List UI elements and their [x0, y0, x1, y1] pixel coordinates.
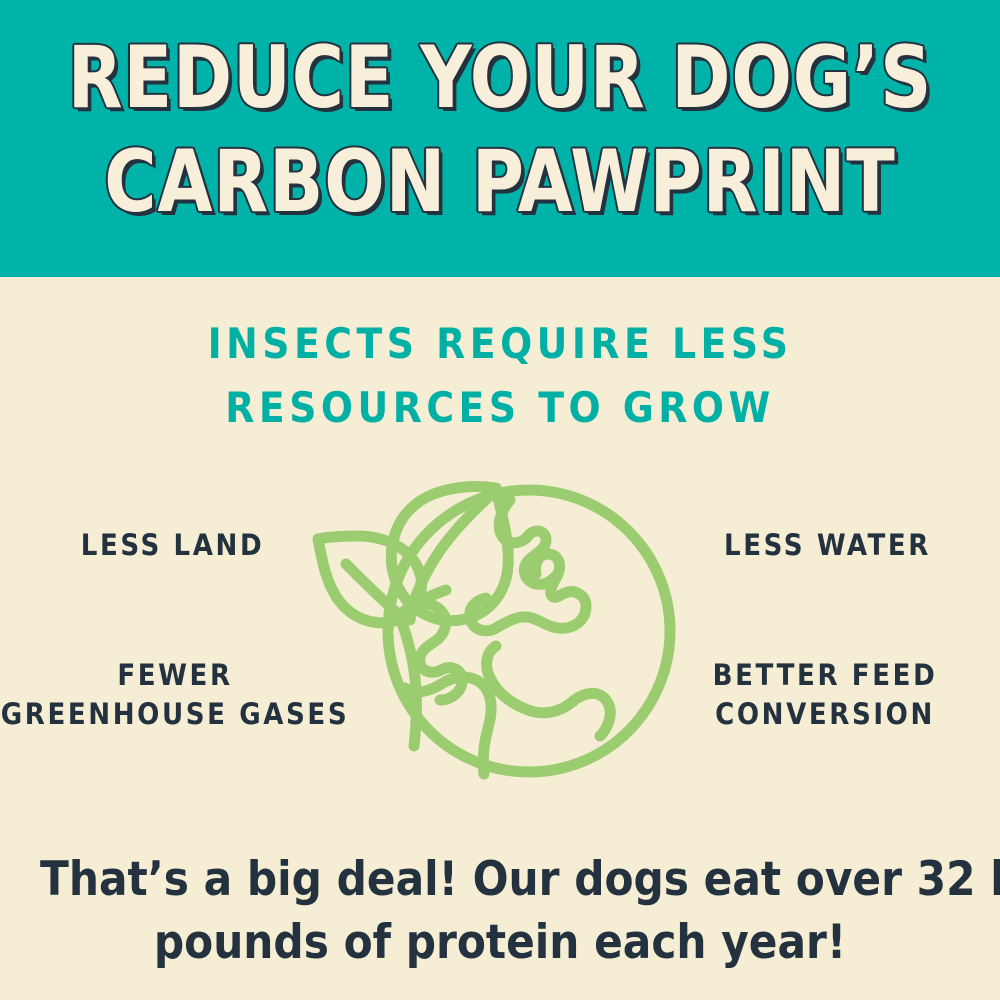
subtitle-line-2: RESOURCES TO GROW: [0, 376, 1000, 440]
infographic-poster: REDUCE YOUR DOG’S CARBON PAWPRINT INSECT…: [0, 0, 1000, 1000]
page-title-line-1: REDUCE YOUR DOG’S: [40, 26, 960, 130]
closing-statement: That’s a big deal! Our dogs eat over 32 …: [40, 848, 960, 974]
benefit-label-better-feed-conversion: BETTER FEED CONVERSION: [650, 656, 1000, 734]
page-title: REDUCE YOUR DOG’S CARBON PAWPRINT: [40, 26, 960, 234]
benefit-label-less-water: LESS WATER: [655, 526, 1000, 565]
continent-south-east: [487, 646, 611, 736]
benefit-label-better-feed-conversion-line-2: CONVERSION: [650, 695, 1000, 734]
benefit-label-less-land-line-1: LESS LAND: [0, 526, 345, 565]
closing-statement-line-1: That’s a big deal! Our dogs eat over 32 …: [40, 848, 960, 911]
subtitle-line-1: INSECTS REQUIRE LESS: [0, 312, 1000, 376]
benefit-label-fewer-greenhouse-gases-line-1: FEWER: [0, 656, 350, 695]
closing-statement-line-2: pounds of protein each year!: [40, 911, 960, 974]
benefit-label-better-feed-conversion-line-1: BETTER FEED: [650, 656, 1000, 695]
globe-with-sprout-icon: [300, 460, 690, 805]
benefit-label-fewer-greenhouse-gases-line-2: GREENHOUSE GASES: [0, 695, 350, 734]
benefit-label-less-water-line-1: LESS WATER: [655, 526, 1000, 565]
benefit-label-fewer-greenhouse-gases: FEWER GREENHOUSE GASES: [0, 656, 350, 734]
subtitle: INSECTS REQUIRE LESS RESOURCES TO GROW: [0, 312, 1000, 440]
page-title-line-2: CARBON PAWPRINT: [40, 130, 960, 234]
benefit-label-less-land: LESS LAND: [0, 526, 345, 565]
